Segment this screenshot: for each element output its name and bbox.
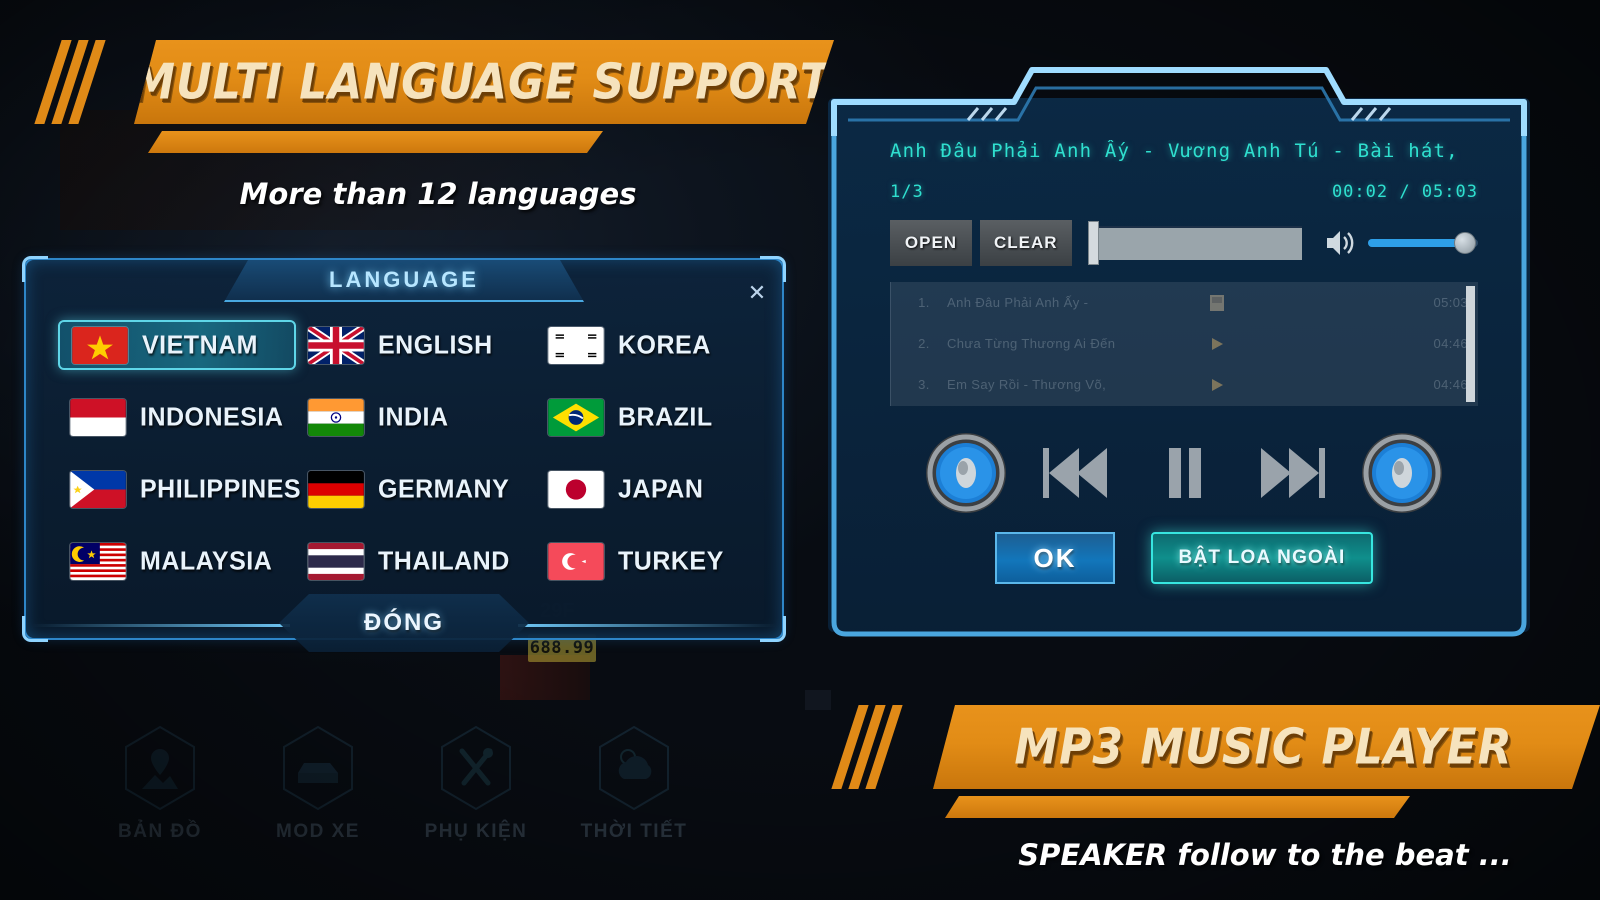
flag-germany-icon [308, 471, 364, 508]
playlist-index: 3. [901, 377, 947, 392]
playlist-index: 1. [901, 295, 947, 310]
speaker-cone-icon[interactable] [1359, 430, 1445, 516]
left-banner-subtitle: More than 12 languages [240, 177, 637, 211]
playlist-duration: 05:03 [1408, 295, 1468, 310]
language-dialog-title: LANGUAGE [329, 267, 479, 293]
language-item-label: GERMANY [378, 474, 509, 504]
language-grid: VIETNAM ENGLISH KOREA [58, 320, 764, 586]
mp3-player-panel: Anh Đâu Phải Anh Ấy - Vương Anh Tú - Bài… [818, 62, 1540, 642]
footer-line-left [32, 624, 290, 627]
track-position: 1/3 [890, 182, 924, 202]
mp3-player-content: Anh Đâu Phải Anh Ấy - Vương Anh Tú - Bài… [890, 140, 1478, 584]
flag-japan-icon [548, 471, 604, 508]
language-item-indonesia[interactable]: INDONESIA [58, 392, 296, 442]
right-banner: MP3 MUSIC PLAYER SPEAKER follow to the b… [845, 705, 1600, 872]
language-item-label: THAILAND [378, 546, 510, 576]
language-item-label: INDONESIA [140, 402, 283, 432]
language-item-vietnam[interactable]: VIETNAM [58, 320, 296, 370]
left-banner-title: MULTI LANGUAGE SUPPORT [131, 53, 831, 110]
flag-brazil-icon [548, 399, 604, 436]
flag-thailand-icon [308, 543, 364, 580]
playlist-row[interactable]: 3. Em Say Rồi - Thương Võ, 04:46 [891, 364, 1478, 405]
language-item-label: MALAYSIA [140, 546, 272, 576]
mp3-meta-row: 1/3 00:02 / 05:03 [890, 182, 1478, 202]
playlist-track-name: Chưa Từng Thương Ai Đến [947, 336, 1197, 351]
playlist-track-name: Em Say Rồi - Thương Võ, [947, 377, 1197, 392]
banner-slashes-icon [845, 705, 889, 789]
flag-vietnam-icon [72, 327, 128, 364]
file-icon [1197, 295, 1237, 311]
seek-track [1088, 226, 1302, 260]
flag-indonesia-icon [70, 399, 126, 436]
playlist-row[interactable]: 2. Chưa Từng Thương Ai Đến 04:46 [891, 323, 1478, 364]
clear-button[interactable]: CLEAR [980, 220, 1072, 266]
speaker-volume-icon[interactable] [1324, 226, 1358, 260]
language-dialog-footer: ĐÓNG [24, 610, 784, 668]
volume-slider[interactable] [1368, 229, 1478, 257]
language-item-label: BRAZIL [618, 402, 713, 432]
language-item-label: JAPAN [618, 474, 703, 504]
right-banner-underbar [945, 796, 1410, 818]
language-item-turkey[interactable]: TURKEY [536, 536, 764, 586]
flag-korea-icon [548, 327, 604, 364]
language-dialog: LANGUAGE ✕ VIETNAM ENGLISH [24, 258, 784, 640]
language-item-brazil[interactable]: BRAZIL [536, 392, 764, 442]
left-banner-underbar [148, 131, 603, 153]
language-item-korea[interactable]: KOREA [536, 320, 764, 370]
playlist[interactable]: 1. Anh Đâu Phải Anh Ấy - 05:03 2. Chưa T… [890, 282, 1478, 406]
time-display: 00:02 / 05:03 [1332, 182, 1478, 202]
right-banner-plate: MP3 MUSIC PLAYER [933, 705, 1600, 789]
footer-line-right [518, 624, 776, 627]
flag-philippines-icon [70, 471, 126, 508]
close-x-icon[interactable]: ✕ [744, 280, 770, 306]
language-item-english[interactable]: ENGLISH [296, 320, 536, 370]
language-item-label: VIETNAM [142, 330, 258, 360]
left-banner-plate: MULTI LANGUAGE SUPPORT [134, 40, 834, 124]
transport-controls [890, 430, 1478, 516]
play-icon[interactable] [1197, 377, 1237, 393]
language-item-philippines[interactable]: PHILIPPINES [58, 464, 296, 514]
volume-knob[interactable] [1454, 232, 1476, 254]
play-icon[interactable] [1197, 336, 1237, 352]
ok-button[interactable]: OK [995, 532, 1115, 584]
previous-track-icon[interactable] [1035, 442, 1117, 504]
seek-thumb[interactable] [1088, 221, 1099, 265]
mp3-action-buttons: OK BẬT LOA NGOÀI [890, 532, 1478, 584]
playlist-scrollbar[interactable] [1466, 286, 1475, 402]
playlist-duration: 04:46 [1408, 336, 1468, 351]
language-item-label: KOREA [618, 330, 711, 360]
frame-corner-top-right [760, 256, 786, 282]
flag-india-icon [308, 399, 364, 436]
language-item-label: INDIA [378, 402, 449, 432]
seek-slider[interactable] [1088, 221, 1302, 265]
flag-turkey-icon [548, 543, 604, 580]
close-dialog-button[interactable]: ĐÓNG [279, 594, 529, 652]
left-banner: MULTI LANGUAGE SUPPORT More than 12 lang… [48, 40, 838, 211]
language-item-japan[interactable]: JAPAN [536, 464, 764, 514]
open-button[interactable]: OPEN [890, 220, 972, 266]
volume-control [1324, 226, 1478, 260]
volume-fill [1368, 239, 1465, 247]
language-dialog-titlebar: LANGUAGE [224, 260, 584, 302]
flag-uk-icon [308, 327, 364, 364]
flag-malaysia-icon [70, 543, 126, 580]
language-item-label: PHILIPPINES [140, 474, 301, 504]
playlist-row[interactable]: 1. Anh Đâu Phải Anh Ấy - 05:03 [891, 282, 1478, 323]
language-item-germany[interactable]: GERMANY [296, 464, 536, 514]
playlist-track-name: Anh Đâu Phải Anh Ấy - [947, 295, 1197, 310]
playlist-index: 2. [901, 336, 947, 351]
language-item-malaysia[interactable]: MALAYSIA [58, 536, 296, 586]
close-dialog-button-label: ĐÓNG [364, 609, 444, 637]
language-item-label: TURKEY [618, 546, 724, 576]
frame-corner-top-left [22, 256, 48, 282]
speaker-cone-icon[interactable] [923, 430, 1009, 516]
ok-button-label: OK [1034, 543, 1077, 574]
next-track-icon[interactable] [1251, 442, 1333, 504]
language-item-india[interactable]: INDIA [296, 392, 536, 442]
playlist-duration: 04:46 [1408, 377, 1468, 392]
pause-icon[interactable] [1143, 442, 1225, 504]
banner-slashes-icon [48, 40, 92, 124]
language-item-thailand[interactable]: THAILAND [296, 536, 536, 586]
language-item-label: ENGLISH [378, 330, 493, 360]
external-speaker-button-label: BẬT LOA NGOÀI [1179, 547, 1346, 569]
mp3-controls-row: OPEN CLEAR [890, 220, 1478, 266]
right-banner-subtitle: SPEAKER follow to the beat ... [1018, 838, 1512, 872]
now-playing-title: Anh Đâu Phải Anh Ấy - Vương Anh Tú - Bài… [890, 140, 1478, 162]
external-speaker-button[interactable]: BẬT LOA NGOÀI [1151, 532, 1373, 584]
right-banner-title: MP3 MUSIC PLAYER [1014, 718, 1512, 775]
